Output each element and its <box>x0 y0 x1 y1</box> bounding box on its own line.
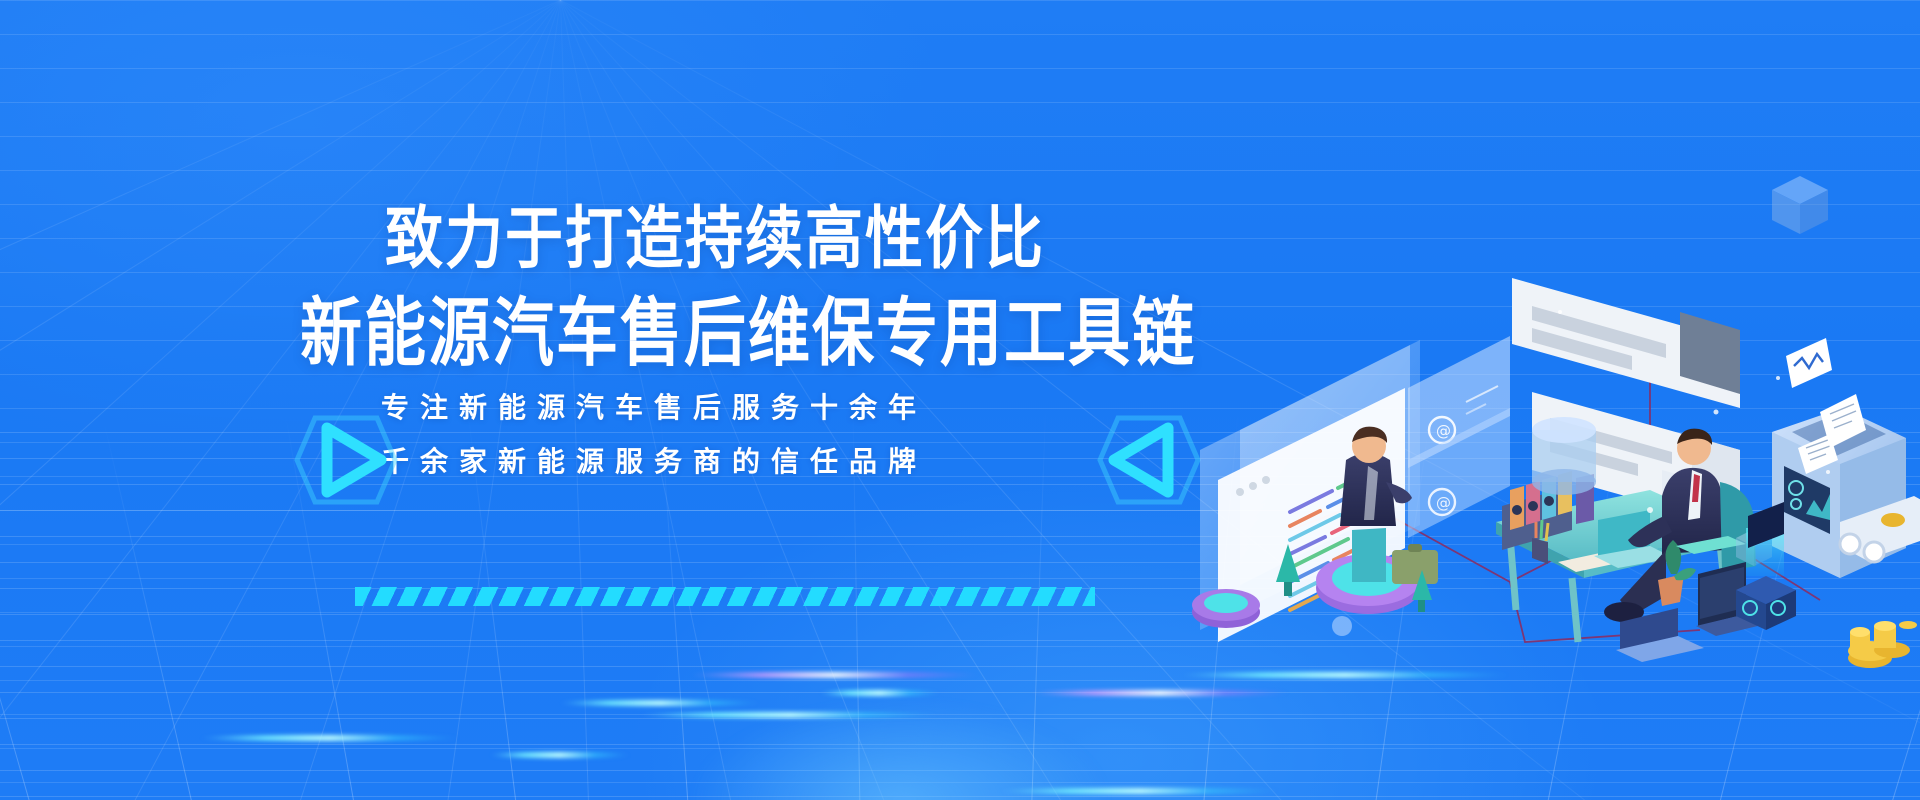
svg-text:@: @ <box>1436 494 1451 512</box>
chat-bubble-card <box>1512 278 1740 408</box>
hologram-pedestal-small <box>1192 589 1260 628</box>
floating-cube <box>1772 176 1828 234</box>
subtitle-line-2: 千余家新能源服务商的信任品牌 <box>381 440 927 480</box>
headline-line-1: 致力于打造持续高性价比 <box>385 183 1045 282</box>
coin-stack <box>1848 621 1917 668</box>
subtitle-line-1: 专注新能源汽车售后服务十余年 <box>381 386 927 426</box>
diagonal-stripe-bar <box>355 587 1095 606</box>
isometric-office-consultation-illustration: @ @ <box>1180 130 1920 690</box>
cylinder-column <box>1532 417 1596 495</box>
play-arrow-right-icon <box>285 400 405 520</box>
server-machine <box>1772 338 1920 578</box>
copy-block: 致力于打造持续高性价比 新能源汽车售后维保专用工具链 专注新能源汽车售后服务十余… <box>0 0 1180 800</box>
svg-text:@: @ <box>1436 422 1451 440</box>
banner-stage: 致力于打造持续高性价比 新能源汽车售后维保专用工具链 专注新能源汽车售后服务十余… <box>0 0 1920 800</box>
sphere-decor <box>1332 616 1352 636</box>
headline-line-2: 新能源汽车售后维保专用工具链 <box>300 272 1196 380</box>
